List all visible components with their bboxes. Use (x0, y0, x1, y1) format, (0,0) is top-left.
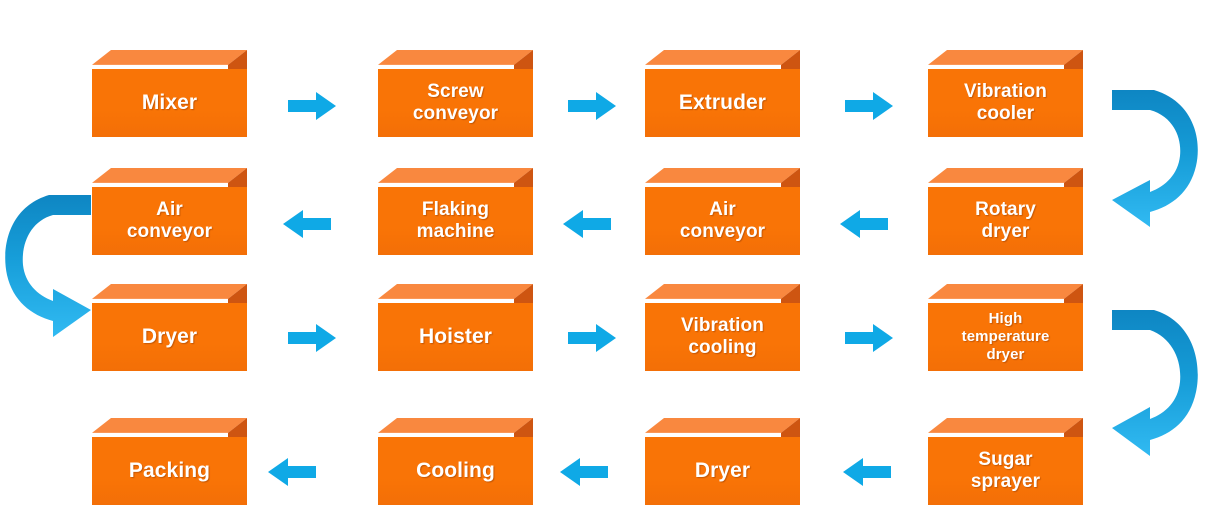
process-node-vibration-cooling[interactable]: Vibration cooling (645, 284, 800, 352)
process-node-rotary-dryer[interactable]: Rotary dryer (928, 168, 1083, 236)
process-node-dryer-2[interactable]: Dryer (645, 418, 800, 486)
node-label: Cooling (416, 459, 495, 484)
box-front-face: Mixer (92, 69, 247, 137)
process-node-sugar-sprayer[interactable]: Sugar sprayer (928, 418, 1083, 486)
box-front-face: Sugar sprayer (928, 437, 1083, 505)
arrow-left-r2-1 (283, 210, 331, 238)
box-front-face: Cooling (378, 437, 533, 505)
node-label: Dryer (695, 459, 750, 484)
box-front-face: Air conveyor (92, 187, 247, 255)
node-label: Rotary dryer (975, 199, 1036, 244)
node-label: Extruder (679, 91, 766, 116)
curved-arrow-left (0, 193, 93, 339)
arrow-right-r1-2 (568, 92, 616, 120)
process-node-air-conveyor-2[interactable]: Air conveyor (645, 168, 800, 236)
node-label: Mixer (142, 91, 197, 116)
process-node-high-temperature-dryer[interactable]: High temperature dryer (928, 284, 1083, 352)
arrow-left-r2-2 (563, 210, 611, 238)
arrow-right-r1-1 (288, 92, 336, 120)
curved-arrow-right-top (1110, 88, 1207, 228)
arrow-right-r1-3 (845, 92, 893, 120)
node-label: Dryer (142, 325, 197, 350)
process-node-vibration-cooler[interactable]: Vibration cooler (928, 50, 1083, 118)
node-label: Vibration cooler (964, 81, 1047, 126)
node-label: Packing (129, 459, 210, 484)
box-front-face: Dryer (92, 303, 247, 371)
box-front-face: Air conveyor (645, 187, 800, 255)
box-front-face: High temperature dryer (928, 303, 1083, 371)
node-label: Flaking machine (417, 199, 495, 244)
process-node-extruder[interactable]: Extruder (645, 50, 800, 118)
node-label: High temperature dryer (962, 310, 1050, 363)
arrow-right-r3-2 (568, 324, 616, 352)
node-label: Hoister (419, 325, 492, 350)
node-label: Air conveyor (127, 199, 212, 244)
box-front-face: Flaking machine (378, 187, 533, 255)
process-node-packing[interactable]: Packing (92, 418, 247, 486)
arrow-left-r4-3 (843, 458, 891, 486)
box-front-face: Vibration cooler (928, 69, 1083, 137)
process-node-air-conveyor-1[interactable]: Air conveyor (92, 168, 247, 236)
curved-arrow-right-bottom (1110, 308, 1207, 458)
process-node-dryer-1[interactable]: Dryer (92, 284, 247, 352)
box-front-face: Dryer (645, 437, 800, 505)
arrow-right-r3-1 (288, 324, 336, 352)
process-node-hoister[interactable]: Hoister (378, 284, 533, 352)
process-node-flaking-machine[interactable]: Flaking machine (378, 168, 533, 236)
node-label: Sugar sprayer (971, 449, 1040, 494)
node-label: Screw conveyor (413, 81, 498, 126)
process-node-mixer[interactable]: Mixer (92, 50, 247, 118)
flowchart-canvas: Mixer Screw conveyor Extruder (0, 0, 1207, 530)
arrow-left-r4-2 (560, 458, 608, 486)
node-label: Vibration cooling (681, 315, 764, 360)
arrow-left-r2-3 (840, 210, 888, 238)
arrow-right-r3-3 (845, 324, 893, 352)
box-front-face: Hoister (378, 303, 533, 371)
arrow-left-r4-1 (268, 458, 316, 486)
box-front-face: Rotary dryer (928, 187, 1083, 255)
box-front-face: Extruder (645, 69, 800, 137)
box-front-face: Screw conveyor (378, 69, 533, 137)
box-front-face: Packing (92, 437, 247, 505)
box-front-face: Vibration cooling (645, 303, 800, 371)
node-label: Air conveyor (680, 199, 765, 244)
process-node-screw-conveyor[interactable]: Screw conveyor (378, 50, 533, 118)
process-node-cooling[interactable]: Cooling (378, 418, 533, 486)
